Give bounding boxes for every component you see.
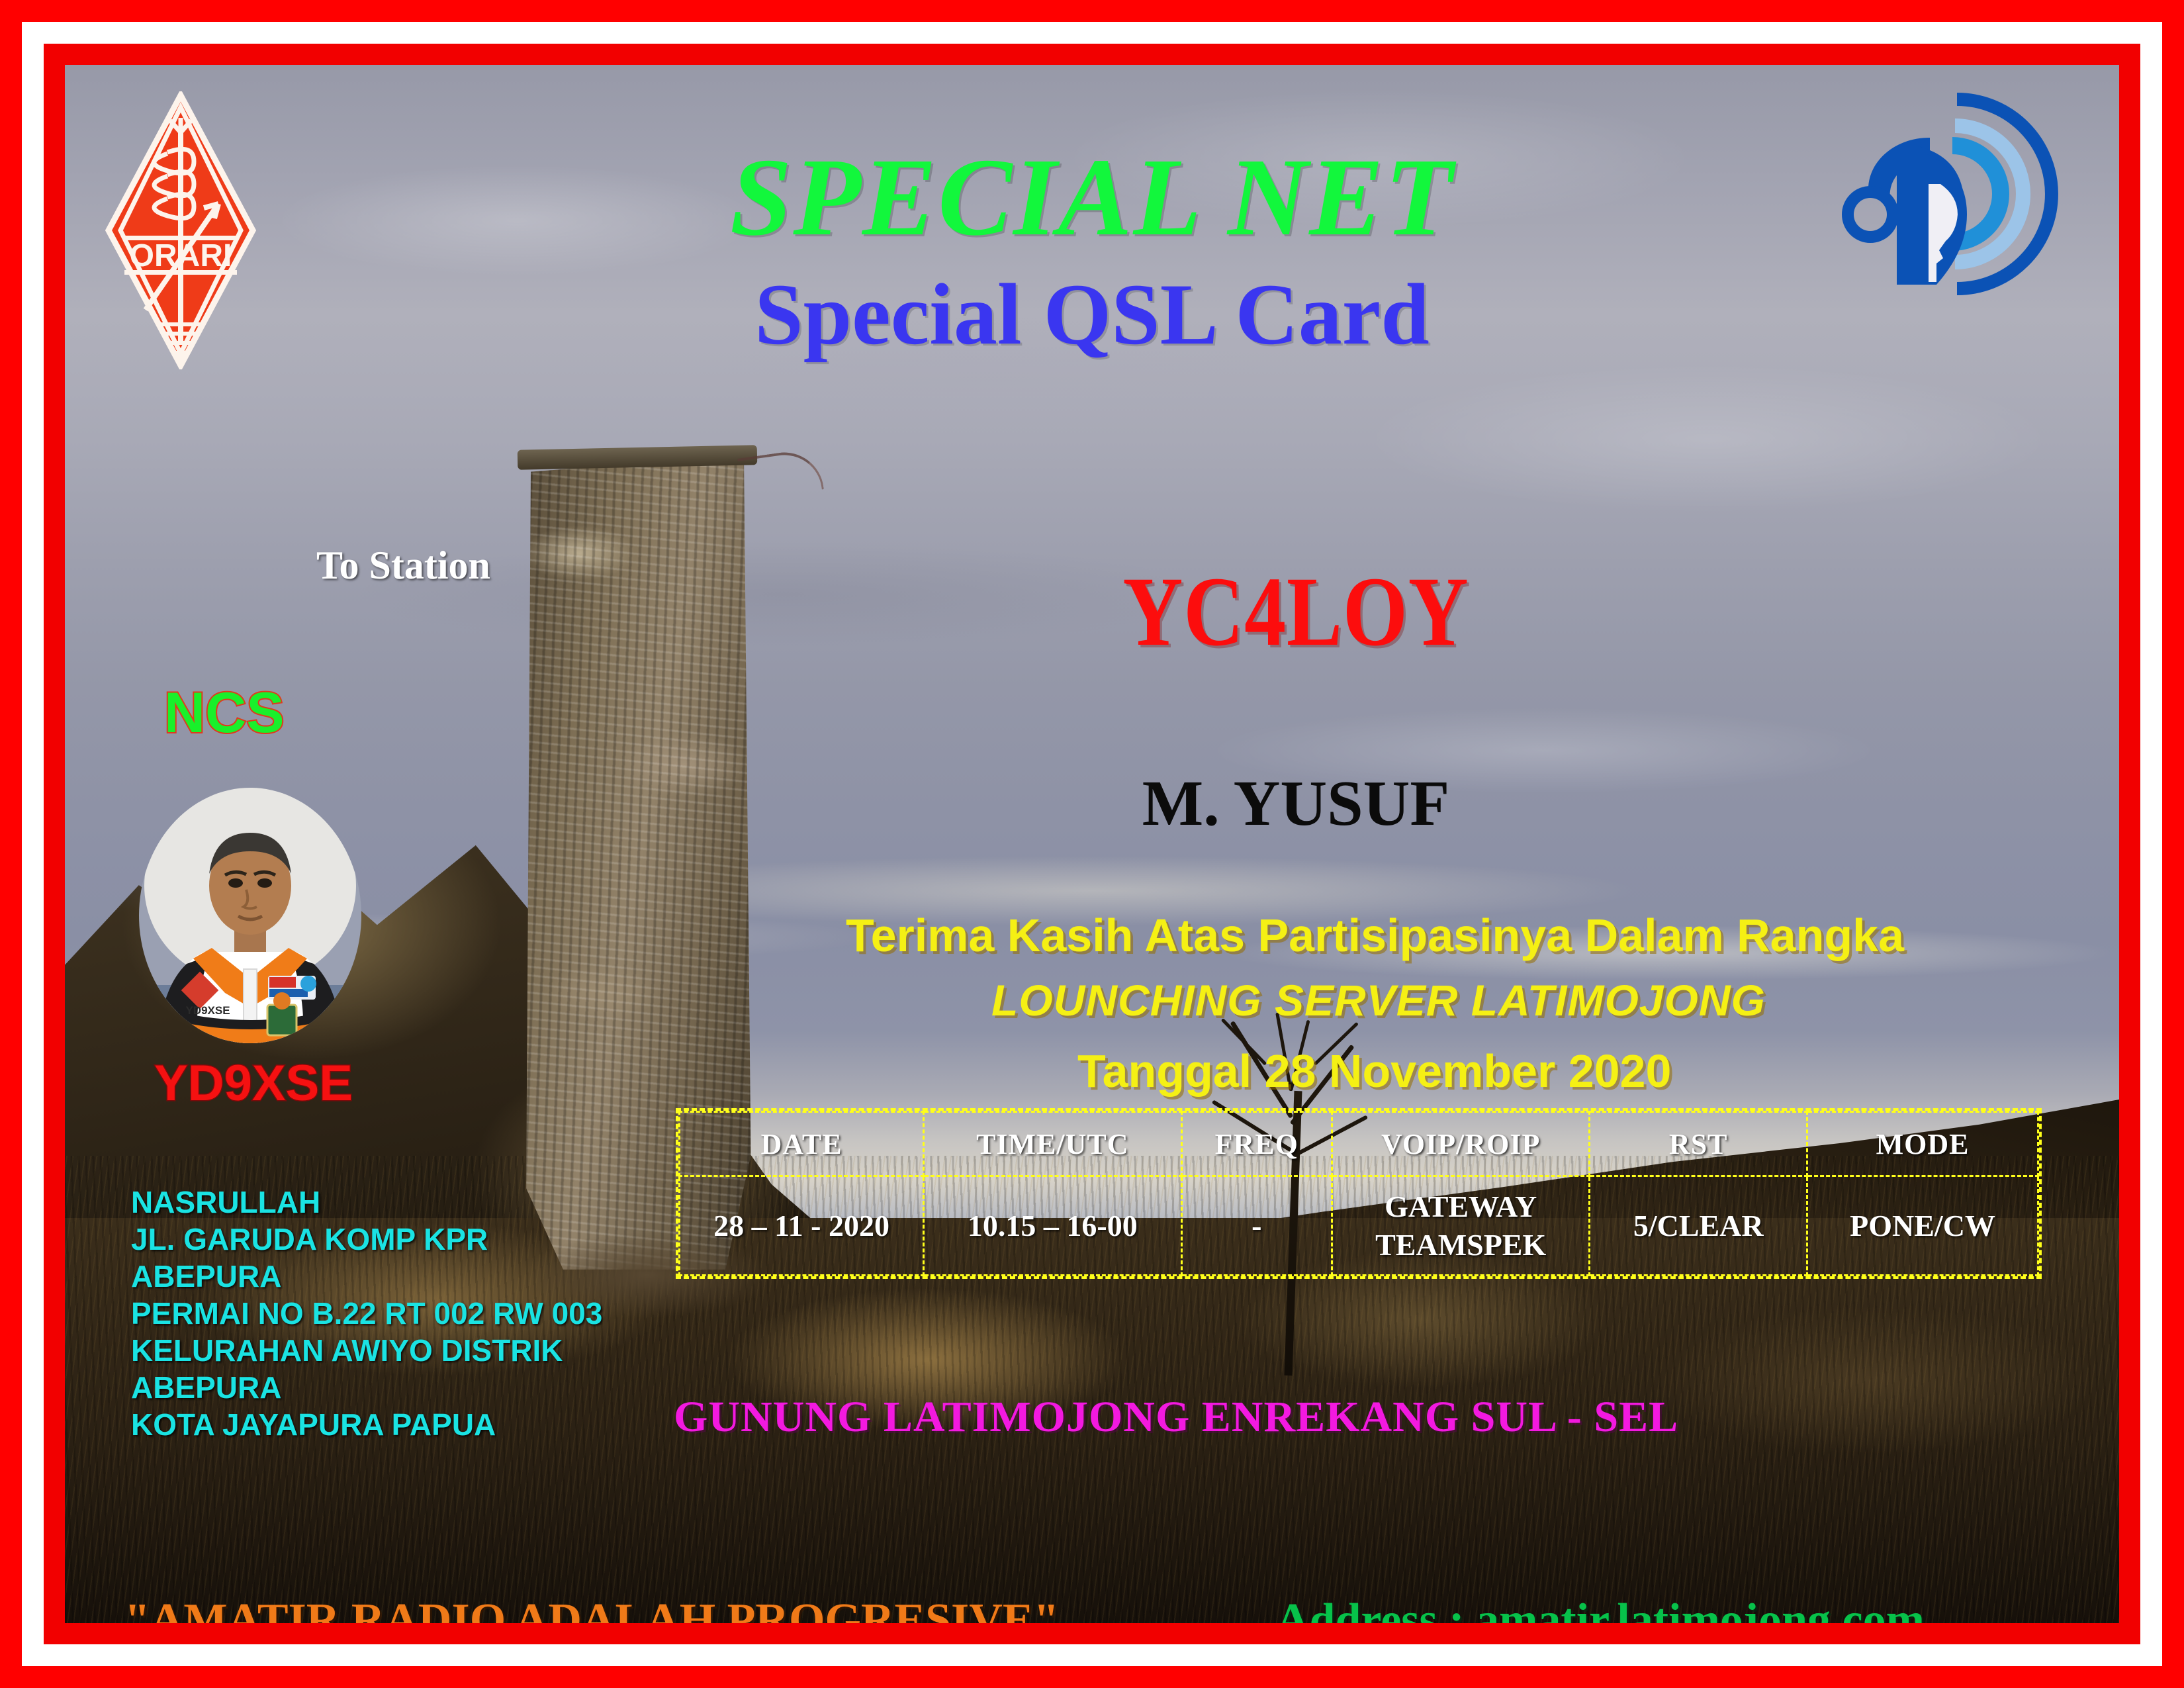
- card-photo-area: ORARI SPECIAL NET Special Q: [65, 65, 2119, 1623]
- address-line: KOTA JAYAPURA PAPUA: [131, 1406, 602, 1443]
- cell-rst: 5/CLEAR: [1590, 1176, 1807, 1276]
- footer-web-address: Address : amatir.latimojong.com: [1276, 1594, 1925, 1623]
- column-header-time-utc: TIME/UTC: [924, 1112, 1181, 1176]
- cell-date: 28 – 11 - 2020: [680, 1176, 924, 1276]
- cell-time-utc: 10.15 – 16-00: [924, 1176, 1181, 1276]
- address-line: KELURAHAN AWIYO DISTRIK: [131, 1332, 602, 1369]
- column-header-date: DATE: [680, 1112, 924, 1176]
- qsl-card: ORARI SPECIAL NET Special Q: [0, 0, 2184, 1688]
- column-header-freq: FREQ: [1181, 1112, 1332, 1176]
- station-callsign: YC4LOY: [990, 555, 1602, 669]
- address-line: JL. GARUDA KOMP KPR: [131, 1221, 602, 1258]
- thanks-line-3-date: Tanggal 28 November 2020: [1077, 1045, 1671, 1098]
- to-station-label: To Station: [316, 543, 490, 588]
- address-line: PERMAI NO B.22 RT 002 RW 003: [131, 1295, 602, 1332]
- cell-voip-roip: GATEWAY TEAMSPEK: [1332, 1176, 1590, 1276]
- address-line: ABEPURA: [131, 1258, 602, 1295]
- ncs-operator-photo: YD9XSE: [138, 786, 363, 1045]
- cell-mode: PONE/CW: [1807, 1176, 2038, 1276]
- address-line: NASRULLAH: [131, 1184, 602, 1221]
- ncs-callsign: YD9XSE: [154, 1055, 353, 1112]
- column-header-voip-roip: VOIP/ROIP: [1332, 1112, 1590, 1176]
- thanks-line-1: Terima Kasih Atas Partisipasinya Dalam R…: [846, 909, 1904, 962]
- footer-motto: "AMATIR RADIO ADALAH PROGRESIVE": [124, 1594, 1059, 1623]
- cell-voip-roip-line2: TEAMSPEK: [1334, 1226, 1588, 1264]
- column-header-mode: MODE: [1807, 1112, 2038, 1176]
- table-header-row: DATE TIME/UTC FREQ VOIP/ROIP RST MODE: [680, 1112, 2038, 1176]
- operator-name: M. YUSUF: [932, 767, 1660, 841]
- qso-details-table: DATE TIME/UTC FREQ VOIP/ROIP RST MODE 28…: [676, 1108, 2042, 1279]
- cell-voip-roip-line1: GATEWAY: [1334, 1188, 1588, 1226]
- ncs-label: NCS: [164, 680, 285, 746]
- table-row: 28 – 11 - 2020 10.15 – 16-00 - GATEWAY T…: [680, 1176, 2038, 1276]
- page-subtitle-special-qsl-card: Special QSL Card: [65, 263, 2119, 365]
- svg-text:YD9XSE: YD9XSE: [185, 1004, 230, 1017]
- address-line: ABEPURA: [131, 1369, 602, 1406]
- thanks-line-2-event: LOUNCHING SERVER LATIMOJONG: [991, 975, 1766, 1025]
- location-line: GUNUNG LATIMOJONG ENREKANG SUL - SEL: [674, 1392, 1678, 1442]
- page-title-special-net: SPECIAL NET: [65, 134, 2119, 261]
- ncs-address-block: NASRULLAH JL. GARUDA KOMP KPR ABEPURA PE…: [131, 1184, 602, 1443]
- column-header-rst: RST: [1590, 1112, 1807, 1176]
- cell-freq: -: [1181, 1176, 1332, 1276]
